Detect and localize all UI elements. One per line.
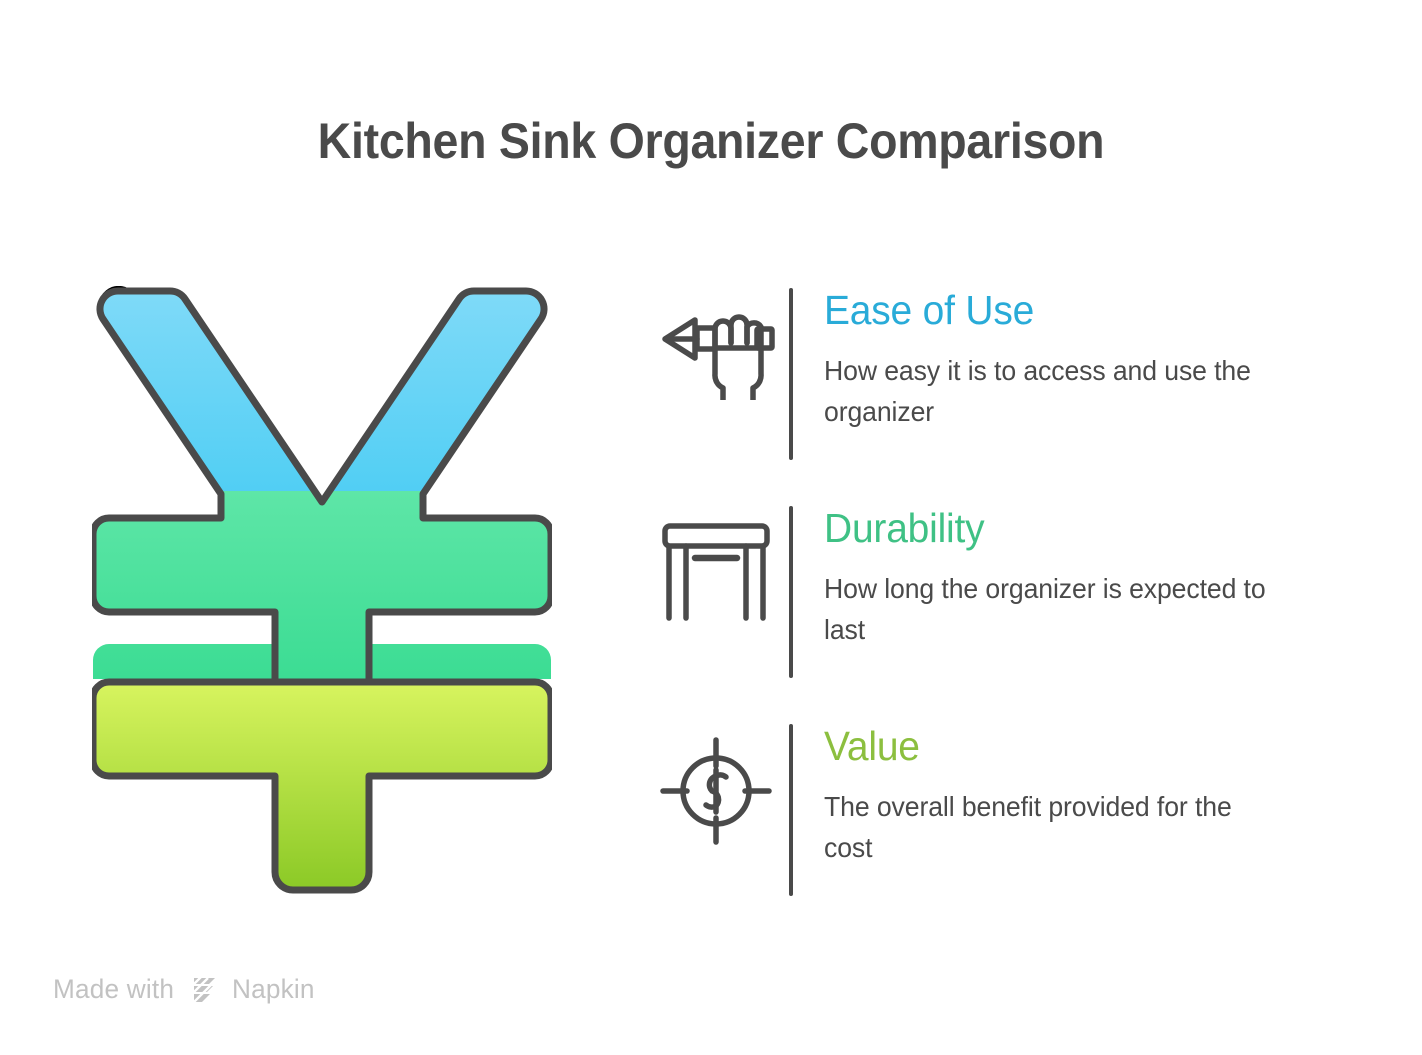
legend-divider (789, 506, 793, 678)
legend-item-value[interactable]: Value The overall benefit provided for t… (648, 722, 1348, 902)
made-with-label: Made with (53, 974, 174, 1005)
table-icon (656, 518, 776, 628)
legend-heading: Durability (824, 504, 1299, 552)
legend-description: How long the organizer is expected to la… (824, 568, 1271, 650)
yen-bottom-band (93, 682, 551, 890)
legend-item-ease-of-use[interactable]: Ease of Use How easy it is to access and… (648, 286, 1348, 466)
legend-text-block: Durability How long the organizer is exp… (824, 504, 1324, 650)
napkin-watermark[interactable]: Made with Napkin (53, 972, 317, 1006)
page-title: Kitchen Sink Organizer Comparison (50, 112, 1372, 170)
brand-label: Napkin (232, 974, 315, 1005)
legend-heading: Value (824, 722, 1299, 770)
dollar-target-icon (656, 736, 776, 846)
hand-pull-icon (656, 300, 776, 410)
legend-list: Ease of Use How easy it is to access and… (648, 286, 1348, 906)
legend-divider (789, 288, 793, 460)
legend-description: How easy it is to access and use the org… (824, 350, 1271, 432)
legend-text-block: Value The overall benefit provided for t… (824, 722, 1324, 868)
legend-heading: Ease of Use (824, 286, 1299, 334)
napkin-logo-icon (188, 972, 222, 1006)
legend-item-durability[interactable]: Durability How long the organizer is exp… (648, 504, 1348, 684)
legend-divider (789, 724, 793, 896)
yen-symbol-svg (92, 286, 552, 896)
legend-text-block: Ease of Use How easy it is to access and… (824, 286, 1324, 432)
yen-illustration (92, 286, 552, 896)
legend-description: The overall benefit provided for the cos… (824, 786, 1271, 868)
